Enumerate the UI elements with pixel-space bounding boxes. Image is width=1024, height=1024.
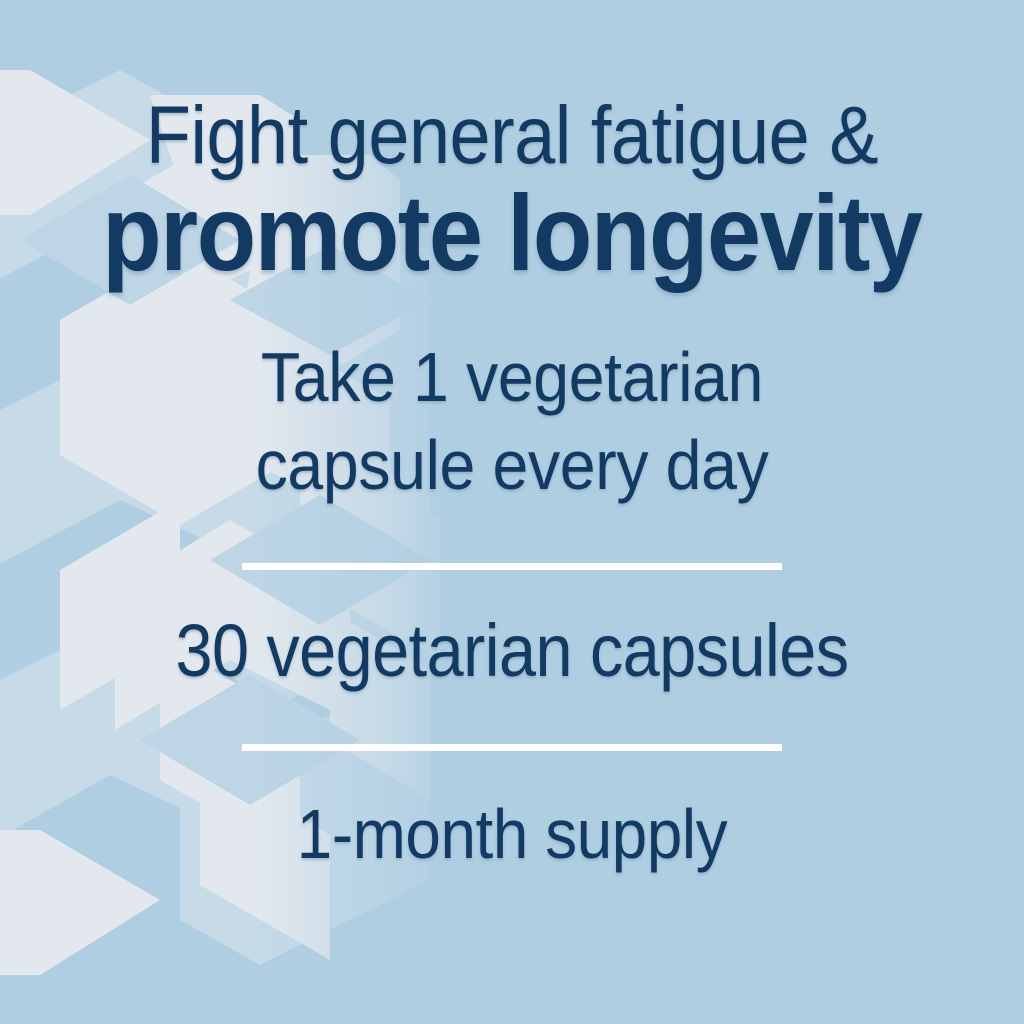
divider-top (242, 563, 782, 570)
product-claims-card: Fight general fatigue & promote longevit… (0, 0, 1024, 1024)
directions-line-2: capsule every day (41, 421, 983, 509)
divider-bottom (242, 744, 782, 751)
directions-block: Take 1 vegetarian capsule every day (41, 333, 983, 509)
card-content: Fight general fatigue & promote longevit… (0, 0, 1024, 1024)
supply-duration-text: 1-month supply (46, 799, 978, 869)
directions-line-1: Take 1 vegetarian (41, 333, 983, 421)
capsule-count-text: 30 vegetarian capsules (51, 614, 973, 688)
headline-line-1: Fight general fatigue & (51, 96, 973, 176)
headline-block: Fight general fatigue & promote longevit… (0, 96, 1024, 289)
headline-line-2: promote longevity (51, 178, 973, 288)
